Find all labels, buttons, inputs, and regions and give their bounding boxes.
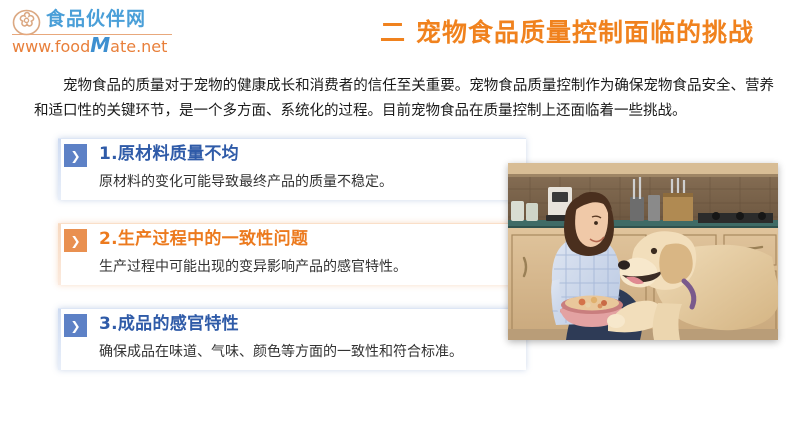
card-accent-edge: [58, 139, 61, 200]
list-item[interactable]: ❯ 1.原材料质量不均 原材料的变化可能导致最终产品的质量不稳定。: [58, 138, 526, 200]
challenge-list: ❯ 1.原材料质量不均 原材料的变化可能导致最终产品的质量不稳定。 ❯ 2.生产…: [58, 138, 558, 393]
page-title: 二宠物食品质量控制面临的挑战: [380, 13, 754, 49]
card-accent-edge: [58, 309, 61, 370]
card-description: 生产过程中可能出现的变异影响产品的感官特性。: [99, 256, 407, 278]
logo-url-suffix: ate.net: [110, 37, 167, 56]
list-item[interactable]: ❯ 2.生产过程中的一致性问题 生产过程中可能出现的变异影响产品的感官特性。: [58, 223, 526, 285]
chevron-right-icon: ❯: [64, 314, 87, 337]
card-description: 确保成品在味道、气味、颜色等方面的一致性和符合标准。: [99, 341, 463, 363]
site-logo[interactable]: 食品伙伴网 www.foodMate.net: [10, 7, 175, 55]
logo-url: www.foodMate.net: [12, 35, 167, 57]
illustration-photo: [508, 163, 778, 340]
chevron-right-icon: ❯: [64, 144, 87, 167]
page-header: 食品伙伴网 www.foodMate.net 二宠物食品质量控制面临的挑战: [0, 0, 800, 62]
logo-url-prefix: www.food: [12, 37, 90, 56]
chevron-right-icon: ❯: [64, 229, 87, 252]
card-accent-edge: [58, 224, 61, 285]
page-title-number: 二: [380, 18, 406, 47]
card-description: 原材料的变化可能导致最终产品的质量不稳定。: [99, 171, 393, 193]
card-title: 1.原材料质量不均: [99, 140, 239, 168]
list-item[interactable]: ❯ 3.成品的感官特性 确保成品在味道、气味、颜色等方面的一致性和符合标准。: [58, 308, 526, 370]
intro-paragraph: 宠物食品的质量对于宠物的健康成长和消费者的信任至关重要。宠物食品质量控制作为确保…: [34, 74, 774, 124]
flower-circle-icon: [12, 8, 41, 37]
card-title: 2.生产过程中的一致性问题: [99, 225, 308, 253]
logo-url-mid: M: [90, 33, 110, 57]
card-title: 3.成品的感官特性: [99, 310, 239, 338]
logo-brand-cn: 食品伙伴网: [46, 7, 146, 31]
page-title-text: 宠物食品质量控制面临的挑战: [416, 18, 754, 47]
